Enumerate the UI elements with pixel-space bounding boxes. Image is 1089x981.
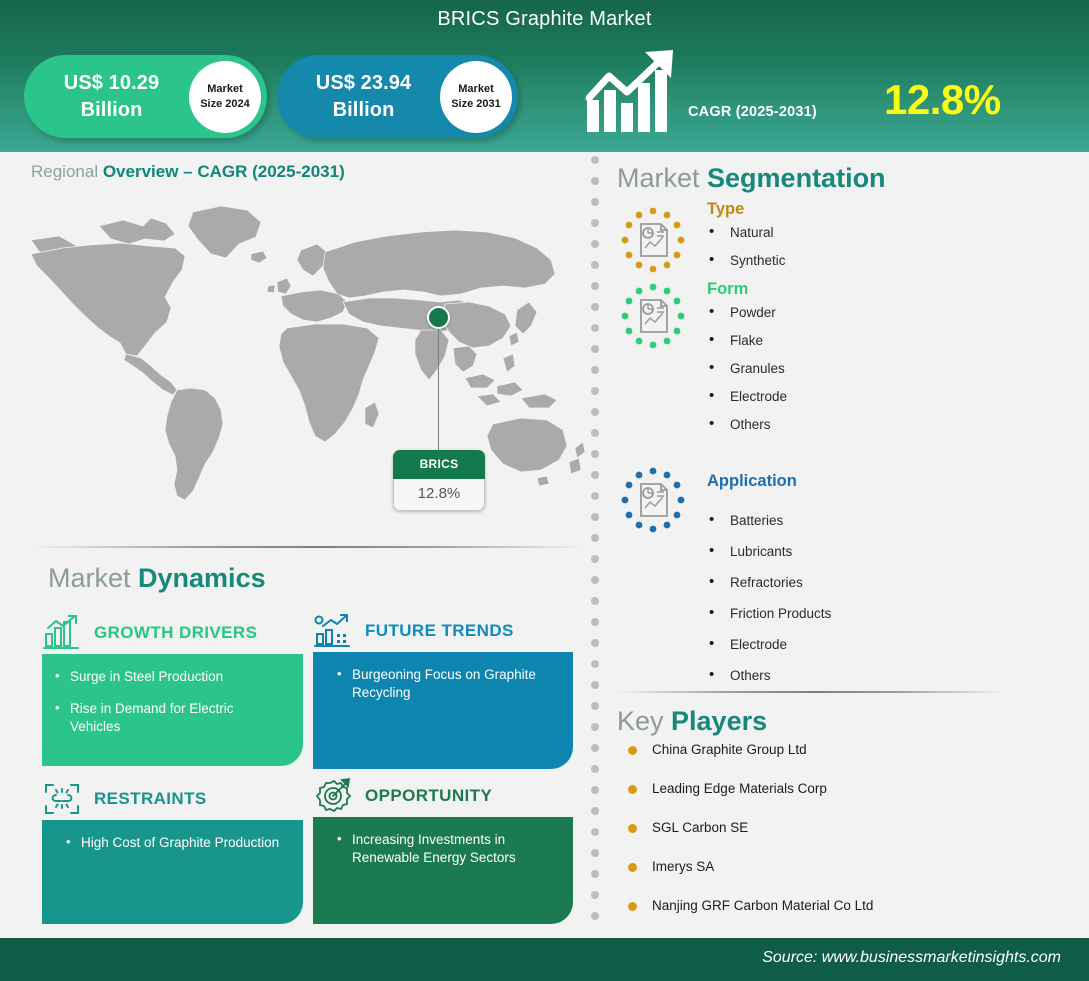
dynamics-card-growth-drivers: GROWTH DRIVERS Surge in Steel Production…: [42, 612, 303, 766]
list-item: Burgeoning Focus on Graphite Recycling: [326, 666, 557, 702]
list-item: Granules: [709, 361, 1017, 376]
restraints-label: RESTRAINTS: [94, 789, 207, 809]
market-size-2024-value-line2: Billion: [81, 99, 143, 121]
header-banner: BRICS Graphite Market US$ 10.29 Billion …: [0, 0, 1089, 152]
segmentation-application-title: Application: [707, 472, 1017, 491]
opportunity-label: OPPORTUNITY: [365, 786, 492, 806]
footer-bar: Source: www.businessmarketinsights.com: [0, 938, 1089, 981]
map-pin-brics: [427, 306, 450, 329]
list-item: Flake: [709, 333, 1017, 348]
market-size-2024-value-line1: US$ 10.29: [64, 72, 159, 94]
list-item: Others: [709, 417, 1017, 432]
growth-chart-arrow-icon: [583, 48, 679, 136]
segmentation-form-title: Form: [707, 280, 1017, 299]
brics-callout: BRICS 12.8%: [393, 450, 485, 511]
growth-drivers-body: Surge in Steel Production Rise in Demand…: [42, 654, 303, 766]
dynamics-card-opportunity: OPPORTUNITY Increasing Investments in Re…: [313, 775, 573, 924]
segmentation-heading-light: Market: [617, 163, 707, 193]
badge-line1: Market: [458, 82, 493, 97]
source-text: Source: www.businessmarketinsights.com: [762, 949, 1061, 967]
list-item: Surge in Steel Production: [55, 668, 287, 686]
market-segmentation-heading: Market Segmentation: [617, 163, 886, 194]
list-item: Electrode: [709, 637, 1017, 652]
dynamics-card-restraints: RESTRAINTS High Cost of Graphite Product…: [42, 778, 303, 924]
opportunity-body: Increasing Investments in Renewable Ener…: [313, 817, 573, 924]
dynamics-card-future-trends: FUTURE TRENDS Burgeoning Focus on Graphi…: [313, 610, 573, 769]
key-players-list: China Graphite Group Ltd Leading Edge Ma…: [626, 742, 1016, 937]
growth-drivers-header: GROWTH DRIVERS: [42, 612, 303, 654]
future-trends-list: Burgeoning Focus on Graphite Recycling: [326, 666, 557, 702]
list-item: China Graphite Group Ltd: [626, 742, 1016, 757]
regional-overview-heading: Regional Overview – CAGR (2025-2031): [31, 162, 345, 182]
segmentation-heading-bold: Segmentation: [707, 163, 886, 193]
list-item: Nanjing GRF Carbon Material Co Ltd: [626, 898, 1016, 913]
market-size-2031-card: US$ 23.94 Billion Market Size 2031: [277, 55, 518, 138]
future-trends-body: Burgeoning Focus on Graphite Recycling: [313, 652, 573, 769]
map-pin-leader-line: [438, 322, 439, 452]
market-size-2031-badge: Market Size 2031: [440, 61, 512, 133]
market-size-2031-value-line2: Billion: [333, 99, 395, 121]
broken-link-icon: [42, 780, 82, 818]
list-item: Refractories: [709, 575, 1017, 590]
list-item: Lubricants: [709, 544, 1017, 559]
list-item: Others: [709, 668, 1017, 683]
restraints-header: RESTRAINTS: [42, 778, 303, 820]
segmentation-type-title: Type: [707, 200, 1017, 219]
brics-callout-region: BRICS: [393, 450, 485, 479]
gear-target-icon: [313, 777, 353, 815]
restraints-body: High Cost of Graphite Production: [42, 820, 303, 924]
market-size-2024-card: US$ 10.29 Billion Market Size 2024: [24, 55, 267, 138]
trend-forecast-icon: [313, 612, 353, 650]
list-item: Imerys SA: [626, 859, 1016, 874]
regional-heading-light: Regional: [31, 162, 103, 181]
list-item: High Cost of Graphite Production: [55, 834, 287, 852]
document-chart-icon: [617, 464, 689, 536]
list-item: Increasing Investments in Renewable Ener…: [326, 831, 557, 867]
world-map-svg: [25, 196, 587, 526]
growth-drivers-list: Surge in Steel Production Rise in Demand…: [55, 668, 287, 736]
key-players-heading-bold: Players: [671, 706, 767, 736]
list-item: Natural: [709, 225, 1017, 240]
regional-heading-bold: Overview – CAGR (2025-2031): [103, 162, 345, 181]
segmentation-form-list: Powder Flake Granules Electrode Others: [709, 305, 1017, 432]
segmentation-application-list: Batteries Lubricants Refractories Fricti…: [709, 513, 1017, 683]
market-size-2024-badge: Market Size 2024: [189, 61, 261, 133]
list-item: Synthetic: [709, 253, 1017, 268]
badge-line1: Market: [207, 82, 242, 97]
market-dynamics-heading: Market Dynamics: [48, 563, 266, 594]
market-size-2024-value: US$ 10.29 Billion: [24, 70, 189, 123]
opportunity-list: Increasing Investments in Renewable Ener…: [326, 831, 557, 867]
future-trends-label: FUTURE TRENDS: [365, 621, 514, 641]
list-item: Leading Edge Materials Corp: [626, 781, 1016, 796]
document-chart-icon: [617, 204, 689, 276]
page-title: BRICS Graphite Market: [0, 8, 1089, 31]
list-item: Batteries: [709, 513, 1017, 528]
list-item: Powder: [709, 305, 1017, 320]
divider-left: [29, 546, 585, 548]
document-chart-icon: [617, 280, 689, 352]
segmentation-type-list: Natural Synthetic: [709, 225, 1017, 268]
list-item: Rise in Demand for Electric Vehicles: [55, 700, 287, 736]
cagr-label: CAGR (2025-2031): [688, 104, 817, 120]
badge-line2: Size 2031: [451, 97, 501, 112]
list-item: Friction Products: [709, 606, 1017, 621]
vertical-dotted-divider: [591, 156, 603, 936]
list-item: SGL Carbon SE: [626, 820, 1016, 835]
growth-drivers-label: GROWTH DRIVERS: [94, 623, 257, 643]
brics-callout-cagr: 12.8%: [393, 479, 485, 511]
list-item: Electrode: [709, 389, 1017, 404]
badge-line2: Size 2024: [200, 97, 250, 112]
key-players-heading: Key Players: [617, 706, 767, 737]
segmentation-group-application: Application Batteries Lubricants Refract…: [617, 472, 1017, 692]
market-size-2031-value-line1: US$ 23.94: [316, 72, 411, 94]
infographic-page: BRICS Graphite Market US$ 10.29 Billion …: [0, 0, 1089, 981]
segmentation-groups: Type Natural Synthetic: [617, 200, 1017, 692]
segmentation-group-form: Form Powder Flake Granules Electrode Oth…: [617, 280, 1017, 472]
restraints-list: High Cost of Graphite Production: [55, 834, 287, 852]
segmentation-group-type: Type Natural Synthetic: [617, 200, 1017, 280]
opportunity-header: OPPORTUNITY: [313, 775, 573, 817]
key-players-heading-light: Key: [617, 706, 671, 736]
world-map: [25, 196, 587, 526]
dynamics-heading-light: Market: [48, 563, 138, 593]
dynamics-heading-bold: Dynamics: [138, 563, 266, 593]
cagr-value: 12.8%: [884, 76, 1001, 124]
bar-chart-arrow-up-icon: [42, 614, 82, 652]
market-size-2031-value: US$ 23.94 Billion: [277, 70, 440, 123]
future-trends-header: FUTURE TRENDS: [313, 610, 573, 652]
